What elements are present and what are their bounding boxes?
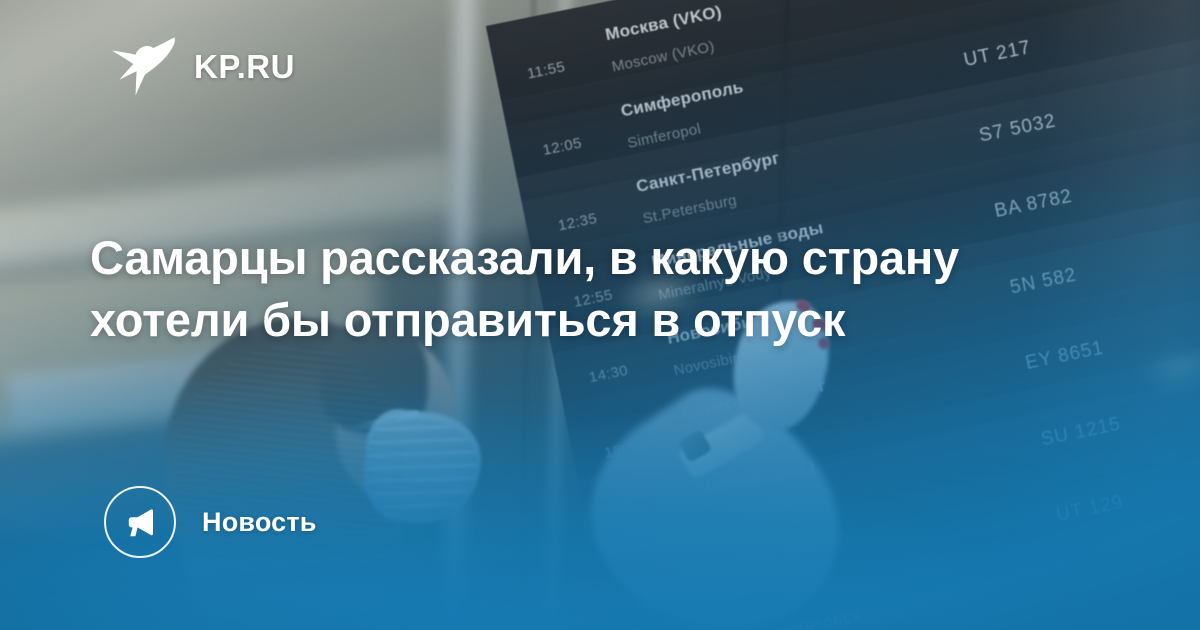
megaphone-icon [104, 486, 176, 558]
swallow-bird-icon [110, 35, 176, 97]
news-share-card: 11:55Москва (VKO)Moscow (VKO)SU 62359-11… [0, 0, 1200, 630]
brand-logo[interactable]: KP.RU [110, 35, 295, 97]
page-title: Самарцы рассказали, в какую страну хотел… [90, 227, 970, 349]
status-badge[interactable]: Новость [104, 486, 317, 558]
brand-wordmark: KP.RU [194, 50, 295, 83]
status-badge-label: Новость [202, 507, 317, 538]
card-content: KP.RU Самарцы рассказали, в какую страну… [0, 0, 1200, 630]
